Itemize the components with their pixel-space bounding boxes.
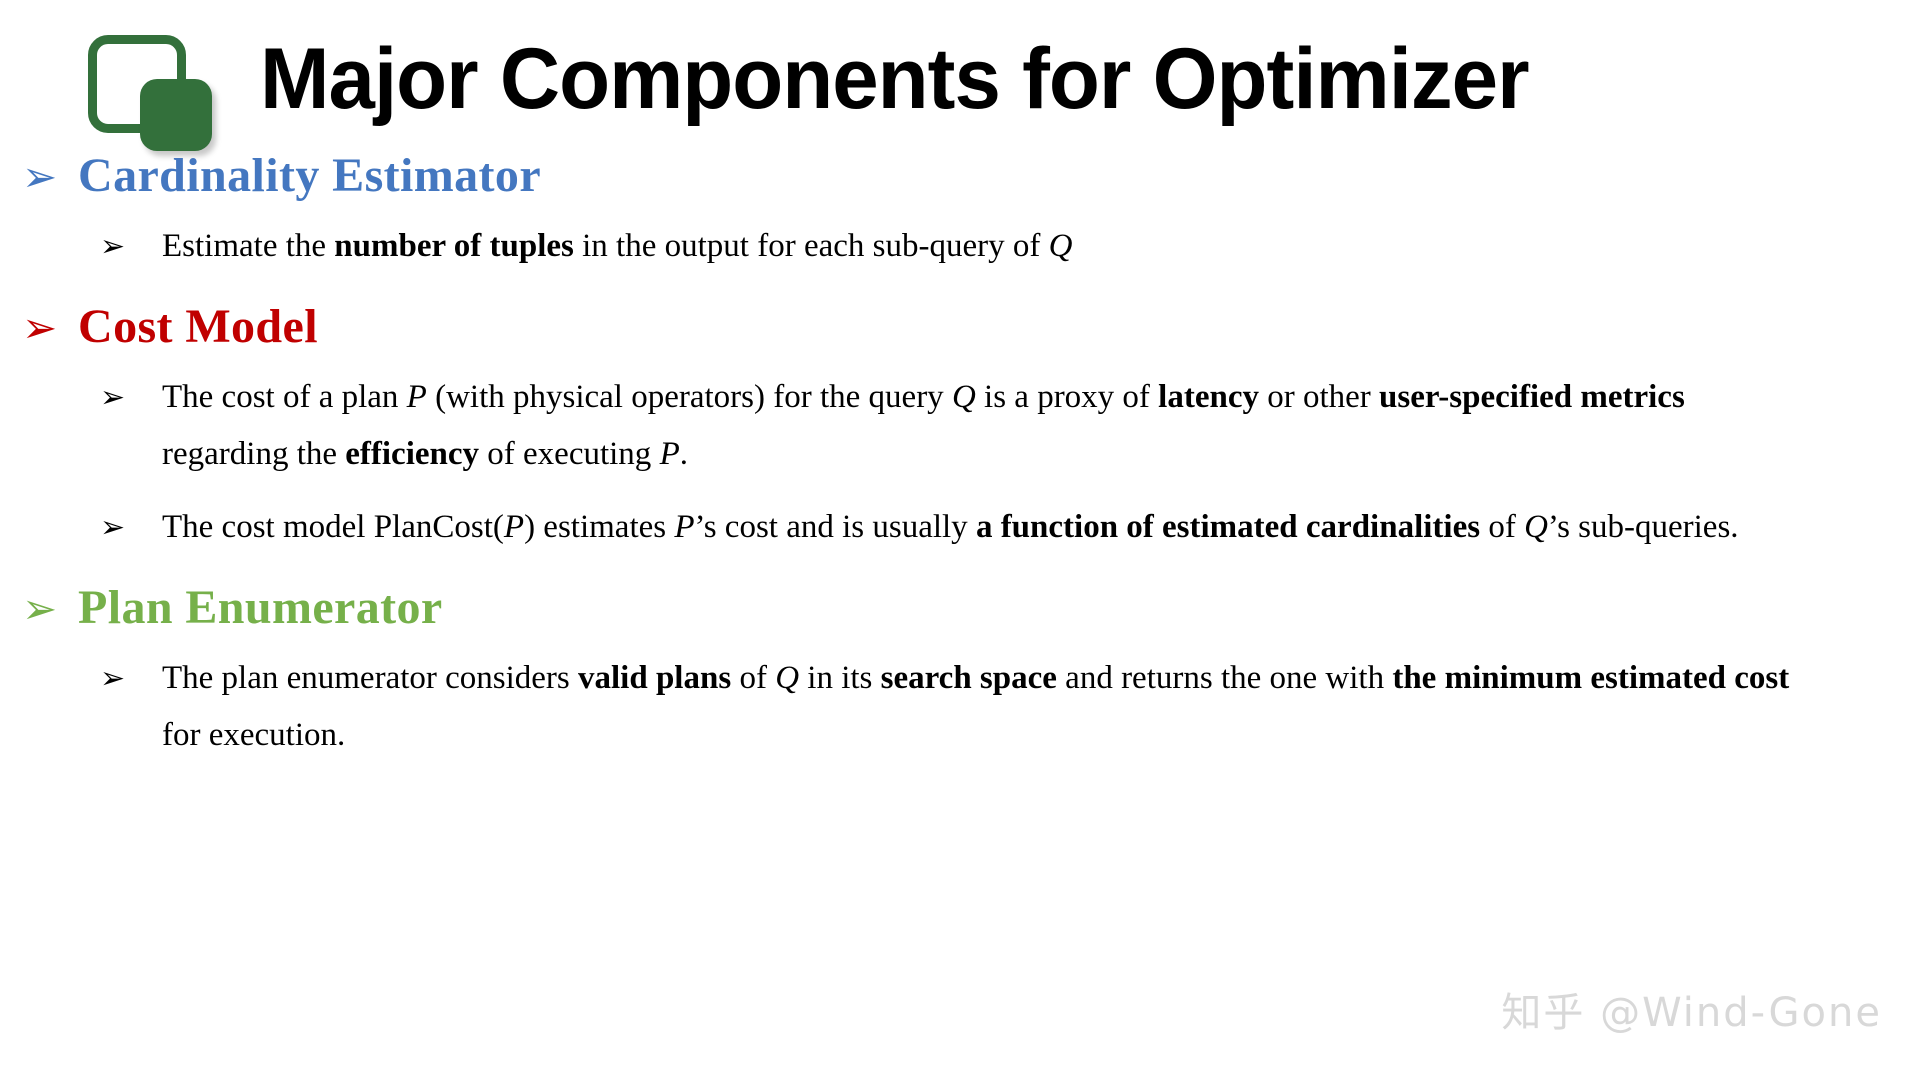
list-item: ➢ The plan enumerator considers valid pl… — [0, 650, 1920, 764]
list-item-text: The plan enumerator considers valid plan… — [162, 650, 1807, 764]
arrow-bullet-icon: ➢ — [22, 589, 78, 631]
list-item: ➢ The cost model PlanCost(P) estimates P… — [0, 499, 1920, 556]
list-item-text: The cost of a plan P (with physical oper… — [162, 369, 1807, 483]
slide-title-row: Major Components for Optimizer — [0, 14, 1920, 144]
list-item: ➢ Estimate the number of tuples in the o… — [0, 218, 1920, 275]
arrow-bullet-icon: ➢ — [100, 218, 162, 275]
section-heading-label: Plan Enumerator — [78, 582, 443, 634]
section-heading-cardinality-estimator: ➢ Cardinality Estimator — [0, 150, 1920, 202]
section-heading-cost-model: ➢ Cost Model — [0, 301, 1920, 353]
section-heading-plan-enumerator: ➢ Plan Enumerator — [0, 582, 1920, 634]
arrow-bullet-icon: ➢ — [100, 499, 162, 556]
arrow-bullet-icon: ➢ — [100, 369, 162, 426]
arrow-bullet-icon: ➢ — [22, 157, 78, 199]
list-item-text: The cost model PlanCost(P) estimates P’s… — [162, 499, 1807, 556]
section-heading-label: Cardinality Estimator — [78, 150, 541, 202]
zhihu-watermark: 知乎 @Wind-Gone — [1501, 980, 1882, 1038]
two-rounded-squares-logo — [88, 23, 228, 135]
arrow-bullet-icon: ➢ — [22, 308, 78, 350]
logo-filled-square — [140, 79, 212, 151]
list-item: ➢ The cost of a plan P (with physical op… — [0, 369, 1920, 483]
page-title: Major Components for Optimizer — [260, 36, 1529, 122]
section-heading-label: Cost Model — [78, 301, 318, 353]
arrow-bullet-icon: ➢ — [100, 650, 162, 707]
slide-content: ➢ Cardinality Estimator ➢ Estimate the n… — [0, 150, 1920, 764]
list-item-text: Estimate the number of tuples in the out… — [162, 218, 1807, 275]
